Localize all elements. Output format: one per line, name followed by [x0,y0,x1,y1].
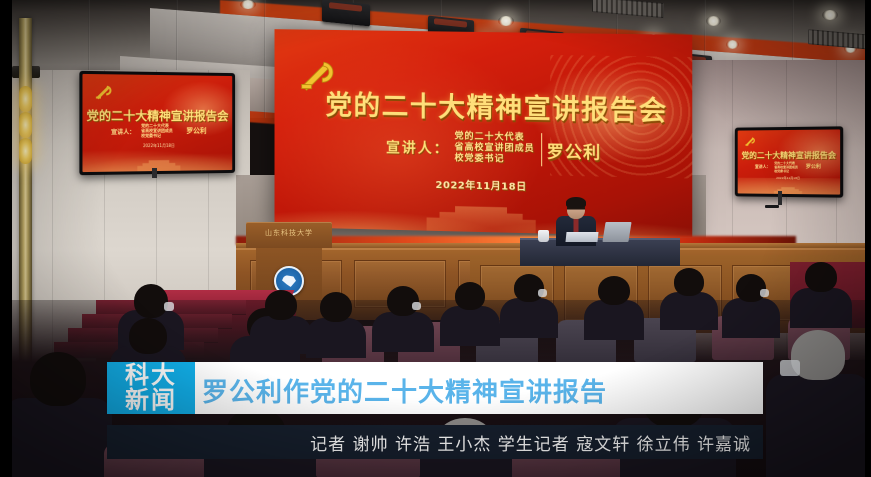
audience-member [660,268,718,328]
pillar-lamp [19,112,32,138]
left-monitor-speaker-name: 罗公利 [186,126,206,136]
left-monitor-screen: 党的二十大精神宣讲报告会 宣讲人： 党的二十大代表 省高校宣讲团成员 校党委书记… [82,74,232,172]
banner-title: 党的二十大精神宣讲报告会 [316,91,678,128]
lower-third-byline-bar: 记者 谢帅 许浩 王小杰 学生记者 寇文轩 徐立伟 许嘉诚 [107,425,763,459]
banner-speaker-credentials: 党的二十大代表 省高校宣讲团成员 校党委书记 [455,131,542,166]
left-display-monitor: 党的二十大精神宣讲报告会 宣讲人： 党的二十大代表 省高校宣讲团成员 校党委书记… [79,71,235,175]
channel-badge-line1: 科大 [125,363,177,388]
face-mask [412,302,421,310]
right-monitor-mount [778,191,782,205]
ceiling-downlight [498,16,514,26]
banner-light-wave [738,178,840,195]
audience-shoulders [250,316,312,354]
audience-shoulders [660,292,718,330]
audience-head [736,274,766,302]
banner-light-wave [82,146,232,172]
audience-member-front [4,352,112,477]
news-headline: 罗公利作党的二十大精神宣讲报告 [202,372,607,409]
audience-head [265,290,297,320]
audience-shoulders [306,318,366,358]
audience-shoulders [500,298,558,338]
audience-shoulders [440,306,500,346]
left-monitor-title: 党的二十大精神宣讲报告会 [82,107,232,124]
cpc-hammer-sickle-emblem [743,135,755,148]
audience-shoulders [4,398,112,477]
ceiling-downlight [706,16,721,26]
credential-line: 校党委书记 [455,153,505,165]
audience-shoulders [584,300,644,340]
audience-head [455,282,485,310]
audience-head [387,286,419,316]
face-mask [780,360,800,376]
channel-badge-line2: 新闻 [125,388,177,413]
audience-head [805,262,837,292]
lectern-institution-text: 山东科技大学 [246,228,332,238]
laptop [602,222,631,242]
left-monitor-mount [152,168,157,178]
audience-member [584,276,644,338]
letterbox-left [0,0,12,477]
audience-member [440,282,500,344]
audience-member [790,262,852,326]
audience-shoulders [372,312,434,352]
ceiling-downlight [822,10,838,20]
video-frame: 党的二十大精神宣讲报告会 宣讲人： 党的二十大代表 省高校宣讲团成员 校党委书记… [0,0,871,477]
audience-shoulders [766,374,870,477]
channel-badge: 科大 新闻 [107,362,195,414]
face-mask [538,289,547,297]
audience-member [306,292,366,356]
audience-head [30,352,86,406]
letterbox-right [865,0,871,477]
audience-member [372,286,434,350]
audience-head [598,276,630,305]
right-display-monitor: 党的二十大精神宣讲报告会 宣讲人： 党的二十大代表 省高校宣讲团成员 校党委书记… [735,126,843,197]
audience-member [250,290,312,352]
audience-member [500,274,558,336]
audience-head [320,292,352,322]
right-monitor-base [765,205,779,208]
pillar-lamp [19,138,32,164]
documents [565,232,598,242]
left-monitor-credential: 校党委书记 [82,133,232,140]
presenter-hair [566,197,586,208]
face-mask [164,302,174,311]
banner-speaker-label: 宣讲人： [386,137,450,158]
audience-head [674,268,704,296]
audience-member [722,274,780,336]
cpc-hammer-sickle-emblem [93,82,113,103]
audience-head [514,274,544,302]
right-monitor-speaker-name: 罗公利 [806,163,821,170]
teacup [538,230,549,242]
pillar-lamp [19,86,32,112]
byline-credits: 记者 谢帅 许浩 王小杰 学生记者 寇文轩 徐立伟 许嘉诚 [310,430,751,455]
stage-backdrop-banner: 党的二十大精神宣讲报告会 宣讲人： 党的二十大代表 省高校宣讲团成员 校党委书记… [275,29,693,237]
audience-shoulders [790,288,852,328]
presenter-tie [574,217,579,233]
right-monitor-screen: 党的二十大精神宣讲报告会 宣讲人： 党的二十大代表 省高校宣讲团成员 校党委书记… [738,129,840,194]
audience-head [129,318,167,354]
banner-speaker-row: 宣讲人： 党的二十大代表 省高校宣讲团成员 校党委书记 罗公利 [320,129,670,169]
head-table [520,238,680,266]
face-mask [760,289,769,297]
right-monitor-credential: 校党委书记 [738,169,840,173]
ceiling-downlight [726,40,739,49]
banner-speaker-name: 罗公利 [547,137,602,163]
audience-member-front [766,330,870,477]
right-monitor-title: 党的二十大精神宣讲报告会 [738,150,840,161]
ceiling-downlight [240,0,256,9]
audience-head [134,284,168,318]
